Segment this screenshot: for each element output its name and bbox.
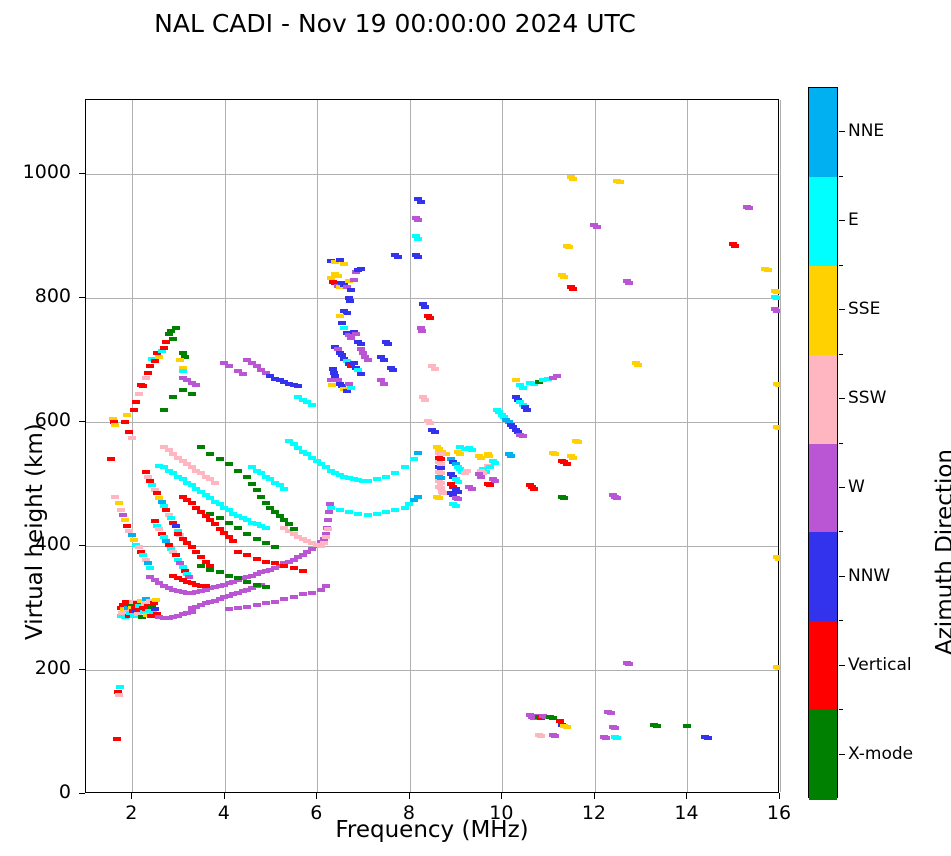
data-mark — [486, 483, 494, 487]
data-mark — [357, 372, 365, 376]
y-tick-label: 200 — [1, 657, 71, 679]
data-mark — [431, 367, 439, 371]
data-mark — [414, 218, 422, 222]
data-mark — [229, 539, 237, 543]
data-mark — [731, 244, 739, 248]
data-mark — [350, 278, 358, 282]
data-mark — [262, 501, 270, 505]
data-mark — [616, 180, 624, 184]
data-mark — [384, 342, 392, 346]
data-mark — [437, 486, 445, 490]
y-tick — [79, 173, 85, 174]
data-mark — [262, 541, 270, 545]
data-mark — [421, 398, 429, 402]
data-mark — [437, 466, 445, 470]
data-mark — [211, 481, 219, 485]
data-mark — [188, 545, 196, 549]
data-mark — [115, 501, 123, 505]
data-mark — [327, 506, 335, 510]
data-mark — [452, 504, 460, 508]
data-mark — [271, 545, 279, 549]
data-mark — [764, 268, 772, 272]
data-mark — [431, 430, 439, 434]
data-mark — [437, 452, 445, 456]
y-tick-label: 1000 — [1, 161, 71, 183]
data-marks-layer — [86, 100, 778, 792]
colorbar-label: SSE — [848, 299, 880, 319]
data-mark — [364, 358, 372, 362]
data-mark — [613, 496, 621, 500]
data-mark — [373, 512, 381, 516]
data-mark — [155, 527, 163, 531]
data-mark — [537, 734, 545, 738]
data-mark — [253, 583, 261, 587]
x-axis-title: Frequency (MHz) — [85, 817, 779, 843]
data-mark — [188, 392, 196, 396]
colorbar-segment — [809, 177, 837, 266]
data-mark — [320, 541, 328, 545]
data-mark — [119, 513, 127, 517]
data-mark — [253, 537, 261, 541]
colorbar-segment — [809, 266, 837, 355]
data-mark — [569, 456, 577, 460]
data-mark — [262, 585, 270, 589]
data-mark — [426, 421, 434, 425]
data-mark — [206, 452, 214, 456]
data-mark — [111, 423, 119, 427]
data-mark — [197, 445, 205, 449]
data-mark — [324, 527, 332, 531]
data-mark — [463, 469, 471, 473]
data-mark — [123, 413, 131, 417]
y-tick — [79, 793, 85, 794]
colorbar-boundary-tick — [839, 443, 843, 444]
data-mark — [280, 487, 288, 491]
x-tick — [779, 793, 780, 799]
data-mark — [437, 457, 445, 461]
data-mark — [160, 408, 168, 412]
x-tick — [131, 793, 132, 799]
colorbar-segment — [809, 355, 837, 444]
data-mark — [234, 550, 242, 554]
colorbar-tick — [839, 665, 845, 666]
data-mark — [130, 408, 138, 412]
data-mark — [290, 566, 298, 570]
data-mark — [257, 495, 265, 499]
data-mark — [364, 513, 372, 517]
x-tick — [594, 793, 595, 799]
colorbar-segment — [809, 532, 837, 621]
data-mark — [117, 508, 125, 512]
data-mark — [142, 470, 150, 474]
data-mark — [179, 388, 187, 392]
data-mark — [121, 420, 129, 424]
data-mark — [243, 475, 251, 479]
data-mark — [704, 736, 712, 740]
data-mark — [456, 452, 464, 456]
data-mark — [405, 502, 413, 506]
data-mark — [611, 726, 619, 730]
data-mark — [216, 516, 224, 520]
data-mark — [530, 487, 538, 491]
colorbar-label: SSW — [848, 388, 886, 408]
data-mark — [234, 576, 242, 580]
data-mark — [144, 371, 152, 375]
data-mark — [262, 526, 270, 530]
data-mark — [394, 255, 402, 259]
data-mark — [347, 386, 355, 390]
y-axis-title: Virtual height (km) — [22, 423, 48, 640]
colorbar-segment — [809, 444, 837, 533]
data-mark — [132, 400, 140, 404]
data-mark — [382, 475, 390, 479]
data-mark — [115, 693, 123, 697]
data-mark — [354, 512, 362, 516]
x-tick — [224, 793, 225, 799]
colorbar-boundary-tick — [839, 709, 843, 710]
data-mark — [160, 346, 168, 350]
data-mark — [234, 469, 242, 473]
data-mark — [128, 436, 136, 440]
y-tick — [79, 545, 85, 546]
data-mark — [486, 465, 494, 469]
data-mark — [225, 574, 233, 578]
data-mark — [773, 290, 780, 294]
data-mark — [414, 255, 422, 259]
data-mark — [107, 457, 115, 461]
data-mark — [477, 475, 485, 479]
data-mark — [290, 595, 298, 599]
data-mark — [308, 403, 316, 407]
data-mark — [653, 724, 661, 728]
data-mark — [569, 287, 577, 291]
data-mark — [151, 359, 159, 363]
data-mark — [593, 225, 601, 229]
data-mark — [625, 662, 633, 666]
data-mark — [330, 371, 338, 375]
data-mark — [437, 462, 445, 466]
data-mark — [551, 734, 559, 738]
data-mark — [336, 508, 344, 512]
data-mark — [336, 314, 344, 318]
data-mark — [345, 510, 353, 514]
data-mark — [426, 316, 434, 320]
data-mark — [468, 448, 476, 452]
data-mark — [512, 378, 520, 382]
data-mark — [454, 480, 462, 484]
data-mark — [437, 471, 445, 475]
data-mark — [243, 532, 251, 536]
data-mark — [152, 598, 160, 602]
data-mark — [414, 495, 422, 499]
colorbar-label: NNE — [848, 121, 884, 141]
data-mark — [435, 496, 443, 500]
data-mark — [176, 358, 184, 362]
data-mark — [519, 386, 527, 390]
data-mark — [745, 206, 753, 210]
data-mark — [340, 326, 348, 330]
data-mark — [155, 355, 163, 359]
data-mark — [280, 597, 288, 601]
data-mark — [327, 378, 335, 382]
colorbar-title: Azimuth Direction — [932, 449, 951, 655]
colorbar-boundary-tick — [839, 265, 843, 266]
data-mark — [563, 462, 571, 466]
data-mark — [334, 274, 342, 278]
data-mark — [248, 482, 256, 486]
colorbar-tick — [839, 131, 845, 132]
data-mark — [174, 532, 182, 536]
colorbar-tick — [839, 487, 845, 488]
data-mark — [324, 518, 332, 522]
colorbar-boundary-tick — [839, 176, 843, 177]
data-mark — [116, 685, 124, 689]
data-mark — [389, 368, 397, 372]
data-mark — [343, 311, 351, 315]
colorbar-segment — [809, 621, 837, 710]
data-mark — [338, 321, 346, 325]
data-mark — [414, 237, 422, 241]
data-mark — [162, 508, 170, 512]
colorbar-tick — [839, 309, 845, 310]
data-mark — [172, 326, 180, 330]
data-mark — [130, 538, 138, 542]
colorbar-label: E — [848, 210, 859, 230]
data-mark — [225, 607, 233, 611]
data-mark — [421, 305, 429, 309]
data-mark — [192, 550, 200, 554]
data-mark — [280, 564, 288, 568]
data-mark — [192, 383, 200, 387]
data-mark — [391, 508, 399, 512]
data-mark — [775, 426, 780, 430]
data-mark — [350, 361, 358, 365]
data-mark — [551, 452, 559, 456]
data-mark — [507, 454, 515, 458]
colorbar — [808, 87, 838, 798]
data-mark — [294, 384, 302, 388]
data-mark — [468, 487, 476, 491]
data-mark — [253, 488, 261, 492]
data-mark — [299, 592, 307, 596]
data-mark — [121, 518, 129, 522]
y-tick — [79, 297, 85, 298]
plot-area — [85, 99, 779, 793]
data-mark — [262, 560, 270, 564]
data-mark — [437, 476, 445, 480]
colorbar-segment — [809, 710, 837, 799]
colorbar-boundary-tick — [839, 531, 843, 532]
data-mark — [625, 281, 633, 285]
data-mark — [185, 575, 193, 579]
data-mark — [128, 533, 136, 537]
data-mark — [613, 736, 621, 740]
data-mark — [179, 369, 187, 373]
data-mark — [202, 584, 210, 588]
data-mark — [477, 456, 485, 460]
data-mark — [322, 584, 330, 588]
data-mark — [560, 496, 568, 500]
data-mark — [519, 434, 527, 438]
data-mark — [188, 501, 196, 505]
data-mark — [169, 337, 177, 341]
colorbar-label: W — [848, 477, 865, 497]
data-mark — [485, 454, 493, 458]
data-mark — [454, 497, 462, 501]
data-mark — [113, 737, 121, 741]
data-mark — [553, 374, 561, 378]
data-mark — [569, 177, 577, 181]
data-mark — [139, 384, 147, 388]
data-mark — [414, 451, 422, 455]
data-mark — [380, 358, 388, 362]
data-mark — [340, 262, 348, 266]
data-mark — [382, 510, 390, 514]
data-mark — [380, 382, 388, 386]
colorbar-label: NNW — [848, 566, 890, 586]
data-mark — [391, 471, 399, 475]
data-mark — [206, 568, 214, 572]
data-mark — [253, 557, 261, 561]
x-tick — [316, 793, 317, 799]
data-mark — [352, 332, 360, 336]
data-mark — [243, 580, 251, 584]
data-mark — [373, 477, 381, 481]
data-mark — [111, 495, 119, 499]
data-mark — [135, 545, 143, 549]
y-tick-label: 800 — [1, 285, 71, 307]
y-tick — [79, 421, 85, 422]
data-mark — [216, 570, 224, 574]
data-mark — [607, 711, 615, 715]
data-mark — [135, 392, 143, 396]
data-mark — [401, 506, 409, 510]
data-mark — [328, 383, 336, 387]
data-mark — [346, 299, 354, 303]
data-mark — [262, 601, 270, 605]
y-tick-label: 0 — [1, 781, 71, 803]
data-mark — [357, 267, 365, 271]
data-mark — [437, 481, 445, 485]
data-mark — [148, 483, 156, 487]
data-mark — [225, 521, 233, 525]
data-mark — [491, 461, 499, 465]
data-mark — [216, 457, 224, 461]
data-mark — [343, 389, 351, 393]
data-mark — [347, 288, 355, 292]
data-mark — [773, 309, 780, 313]
data-mark — [322, 535, 330, 539]
data-mark — [169, 395, 177, 399]
data-mark — [308, 591, 316, 595]
colorbar-tick — [839, 220, 845, 221]
colorbar-tick — [839, 576, 845, 577]
data-mark — [271, 561, 279, 565]
data-mark — [602, 736, 610, 740]
data-mark — [142, 376, 150, 380]
data-mark — [234, 526, 242, 530]
ionogram-figure: NAL CADI - Nov 19 00:00:00 2024 UTC 2468… — [0, 0, 951, 856]
data-mark — [299, 569, 307, 573]
x-tick — [501, 793, 502, 799]
gridline-vertical — [780, 100, 781, 792]
data-mark — [775, 383, 780, 387]
colorbar-boundary-tick — [839, 354, 843, 355]
data-mark — [188, 610, 196, 614]
data-mark — [410, 457, 418, 461]
data-mark — [197, 564, 205, 568]
data-mark — [634, 363, 642, 367]
colorbar-label: X-mode — [848, 744, 913, 764]
data-mark — [206, 564, 214, 568]
data-mark — [155, 615, 163, 619]
data-mark — [325, 510, 333, 514]
data-mark — [357, 342, 365, 346]
y-tick — [79, 669, 85, 670]
x-tick — [409, 793, 410, 799]
data-mark — [151, 607, 159, 611]
colorbar-tick — [839, 754, 845, 755]
data-mark — [401, 465, 409, 469]
chart-title: NAL CADI - Nov 19 00:00:00 2024 UTC — [0, 9, 790, 38]
data-mark — [225, 462, 233, 466]
data-mark — [271, 600, 279, 604]
data-mark — [565, 245, 573, 249]
colorbar-tick — [839, 398, 845, 399]
data-mark — [243, 553, 251, 557]
data-mark — [523, 408, 531, 412]
data-mark — [439, 491, 447, 495]
data-mark — [243, 605, 251, 609]
data-mark — [220, 361, 228, 365]
data-mark — [563, 725, 571, 729]
data-mark — [125, 430, 133, 434]
data-mark — [364, 479, 372, 483]
data-mark — [773, 296, 780, 300]
colorbar-segment — [809, 88, 837, 177]
data-mark — [146, 566, 154, 570]
data-mark — [560, 275, 568, 279]
data-mark — [253, 603, 261, 607]
data-mark — [417, 200, 425, 204]
colorbar-boundary-tick — [839, 620, 843, 621]
data-mark — [418, 329, 426, 333]
data-mark — [234, 606, 242, 610]
data-mark — [290, 527, 298, 531]
data-mark — [146, 364, 154, 368]
data-mark — [574, 440, 582, 444]
colorbar-label: Vertical — [848, 655, 912, 675]
x-tick — [686, 793, 687, 799]
data-mark — [775, 666, 780, 670]
data-mark — [239, 372, 247, 376]
data-mark — [683, 724, 691, 728]
data-mark — [775, 557, 780, 561]
